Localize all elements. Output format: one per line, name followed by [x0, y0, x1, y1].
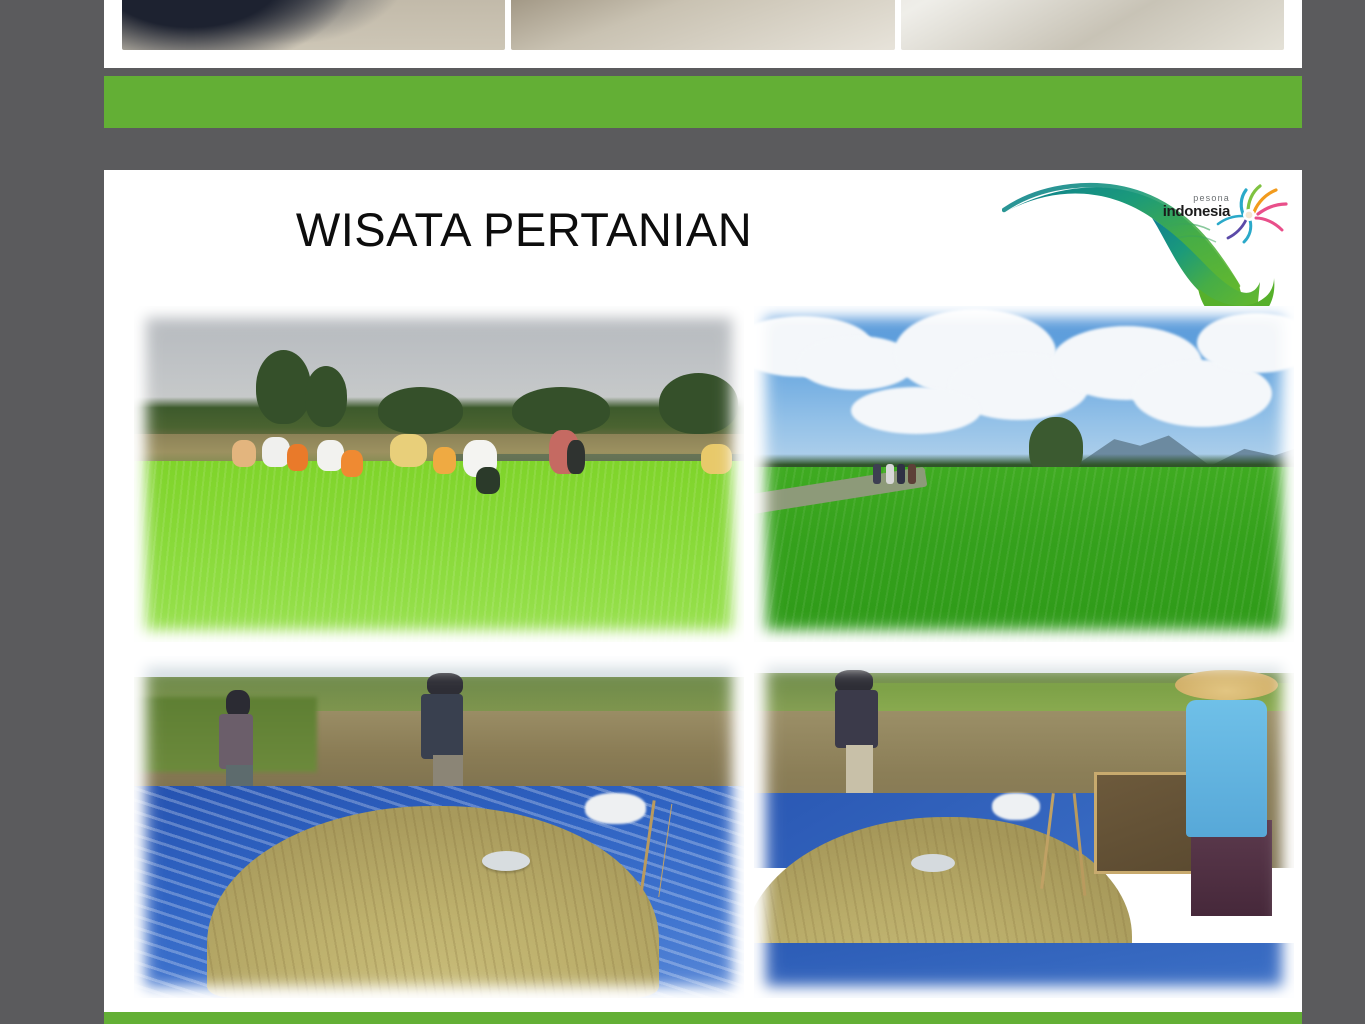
logo-word-indonesia: indonesia	[1163, 204, 1230, 219]
photo-grid	[134, 306, 1294, 998]
main-slide-green-bar	[104, 1012, 1302, 1024]
photo-farmer-sifting-rice	[754, 656, 1294, 998]
previous-slide-partial	[104, 0, 1302, 68]
logo-word-pesona: pesona	[1163, 194, 1230, 203]
pesona-bird-icon	[1200, 182, 1292, 244]
previous-slide-photo-3	[901, 0, 1284, 50]
previous-slide-green-bar	[104, 76, 1302, 128]
previous-slide-photo-1	[122, 0, 505, 50]
main-slide: WISATA PERTANIAN	[104, 170, 1302, 1024]
photo-rice-planting	[134, 306, 744, 642]
previous-slide-white-gap	[104, 50, 1302, 58]
photo-rice-drying-on-tarp	[134, 656, 744, 998]
previous-slide-photo-strip	[104, 0, 1302, 50]
logo-wordmark: pesona indonesia	[1163, 194, 1230, 219]
page-title: WISATA PERTANIAN	[104, 202, 944, 257]
previous-slide-photo-2	[511, 0, 894, 50]
photo-green-rice-field	[754, 306, 1294, 642]
